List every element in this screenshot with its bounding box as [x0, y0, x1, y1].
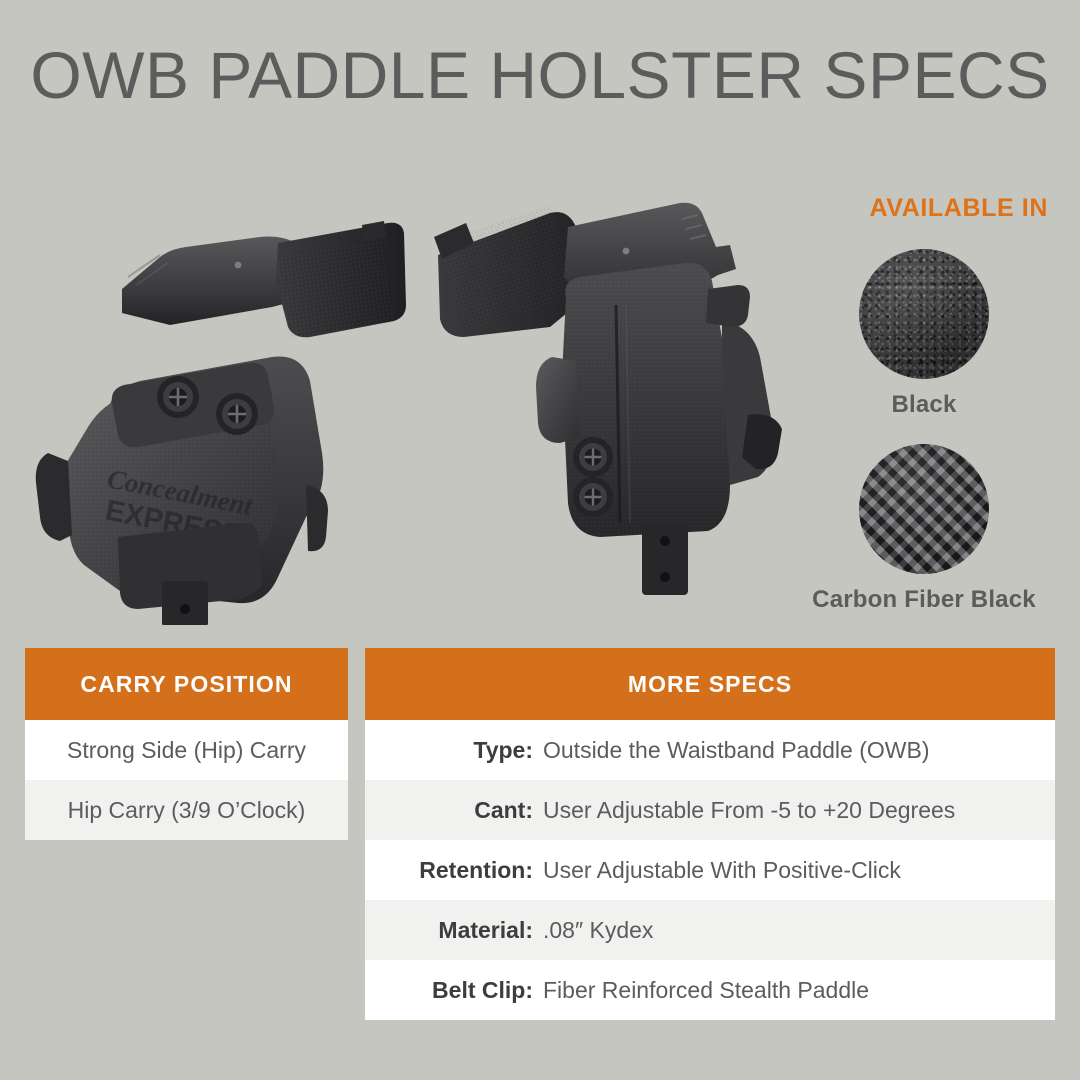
color-option-carbon-fiber-black[interactable]: Carbon Fiber Black: [794, 444, 1054, 614]
color-option-label: Black: [794, 391, 1054, 419]
spec-value: User Adjustable With Positive-Click: [533, 857, 901, 884]
color-option-label: Carbon Fiber Black: [794, 586, 1054, 614]
retention-screw-upper: [157, 376, 199, 418]
spec-label: Material:: [365, 917, 533, 944]
black-texture-swatch[interactable]: [859, 249, 989, 379]
spec-value: Fiber Reinforced Stealth Paddle: [533, 977, 869, 1004]
color-option-black[interactable]: Black: [794, 249, 1054, 419]
table-row: Strong Side (Hip) Carry: [25, 720, 348, 780]
table-row: Cant: User Adjustable From -5 to +20 Deg…: [365, 780, 1055, 840]
more-specs-table: MORE SPECS Type: Outside the Waistband P…: [365, 648, 1055, 1020]
retention-screw-lower: [573, 477, 613, 517]
holster-rear-illustration: [430, 185, 830, 625]
table-row: Retention: User Adjustable With Positive…: [365, 840, 1055, 900]
spec-value: Outside the Waistband Paddle (OWB): [533, 737, 930, 764]
page-title: OWB PADDLE HOLSTER SPECS: [0, 44, 1080, 106]
available-in-heading: AVAILABLE IN: [870, 194, 1049, 223]
spec-label: Cant:: [365, 797, 533, 824]
owb-paddle-holster-rear-view: [430, 185, 830, 625]
carry-position-table-header: CARRY POSITION: [25, 648, 348, 720]
retention-screw-upper: [573, 437, 613, 477]
table-row: Type: Outside the Waistband Paddle (OWB): [365, 720, 1055, 780]
owb-paddle-holster-front-view: Concealment EXPRESS: [10, 185, 410, 625]
spec-label: Retention:: [365, 857, 533, 884]
more-specs-table-header: MORE SPECS: [365, 648, 1055, 720]
carbon-fiber-texture-swatch[interactable]: [859, 444, 989, 574]
spec-value: .08″ Kydex: [533, 917, 653, 944]
holster-front-illustration: Concealment EXPRESS: [10, 185, 410, 625]
carry-position-table: CARRY POSITION Strong Side (Hip) Carry H…: [25, 648, 348, 840]
spec-label: Type:: [365, 737, 533, 764]
product-image-gallery: Concealment EXPRESS: [0, 185, 810, 625]
spec-value: User Adjustable From -5 to +20 Degrees: [533, 797, 955, 824]
table-row: Belt Clip: Fiber Reinforced Stealth Padd…: [365, 960, 1055, 1020]
spec-label: Belt Clip:: [365, 977, 533, 1004]
table-row: Hip Carry (3/9 O’Clock): [25, 780, 348, 840]
retention-screw-lower: [216, 393, 258, 435]
table-row: Material: .08″ Kydex: [365, 900, 1055, 960]
